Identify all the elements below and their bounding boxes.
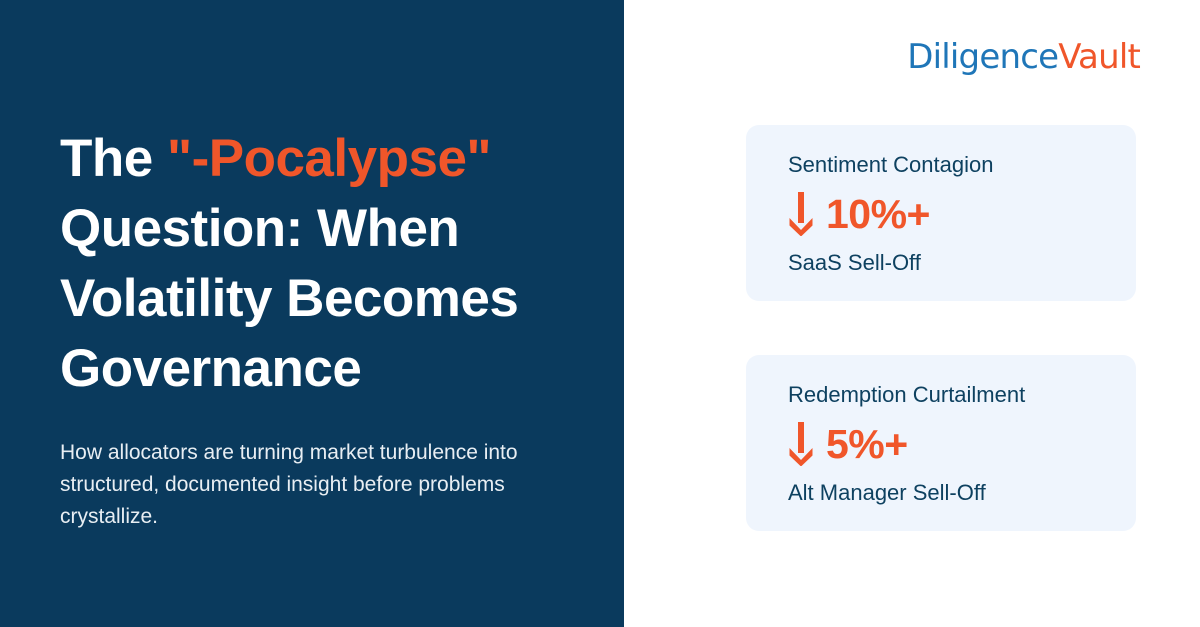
arrow-down-icon: [788, 422, 814, 466]
stat-card-value: 5%+: [826, 422, 908, 466]
title-segment-accent: "-Pocalypse": [167, 129, 491, 188]
title-segment-leading: The: [60, 129, 167, 188]
stat-card-redemption-curtailment: Redemption Curtailment 5%+ Alt Manager S…: [746, 355, 1136, 531]
brand-logo-primary: Diligence: [907, 37, 1058, 77]
stat-card-value-row: 5%+: [788, 417, 1136, 471]
page-title: The "-Pocalypse" Question: When Volatili…: [60, 124, 580, 404]
brand-logo: DiligenceVault: [907, 37, 1140, 77]
stat-card-label: Redemption Curtailment: [788, 381, 1136, 409]
stat-card-list: Sentiment Contagion 10%+ SaaS Sell-Off R…: [746, 125, 1136, 585]
stat-card-caption: Alt Manager Sell-Off: [788, 479, 1136, 507]
hero-subtitle: How allocators are turning market turbul…: [60, 437, 560, 533]
brand-logo-secondary: Vault: [1058, 37, 1140, 77]
hero-text-block: The "-Pocalypse" Question: When Volatili…: [60, 124, 580, 404]
title-segment-trailing: Question: When Volatility Becomes Govern…: [60, 199, 518, 398]
stat-card-value-row: 10%+: [788, 187, 1136, 241]
arrow-down-icon: [788, 192, 814, 236]
stat-card-value: 10%+: [826, 192, 930, 236]
stat-card-caption: SaaS Sell-Off: [788, 249, 1136, 277]
stat-card-sentiment-contagion: Sentiment Contagion 10%+ SaaS Sell-Off: [746, 125, 1136, 301]
slide-canvas: The "-Pocalypse" Question: When Volatili…: [0, 0, 1200, 627]
left-hero-panel: The "-Pocalypse" Question: When Volatili…: [0, 0, 624, 627]
stat-card-label: Sentiment Contagion: [788, 151, 1136, 179]
